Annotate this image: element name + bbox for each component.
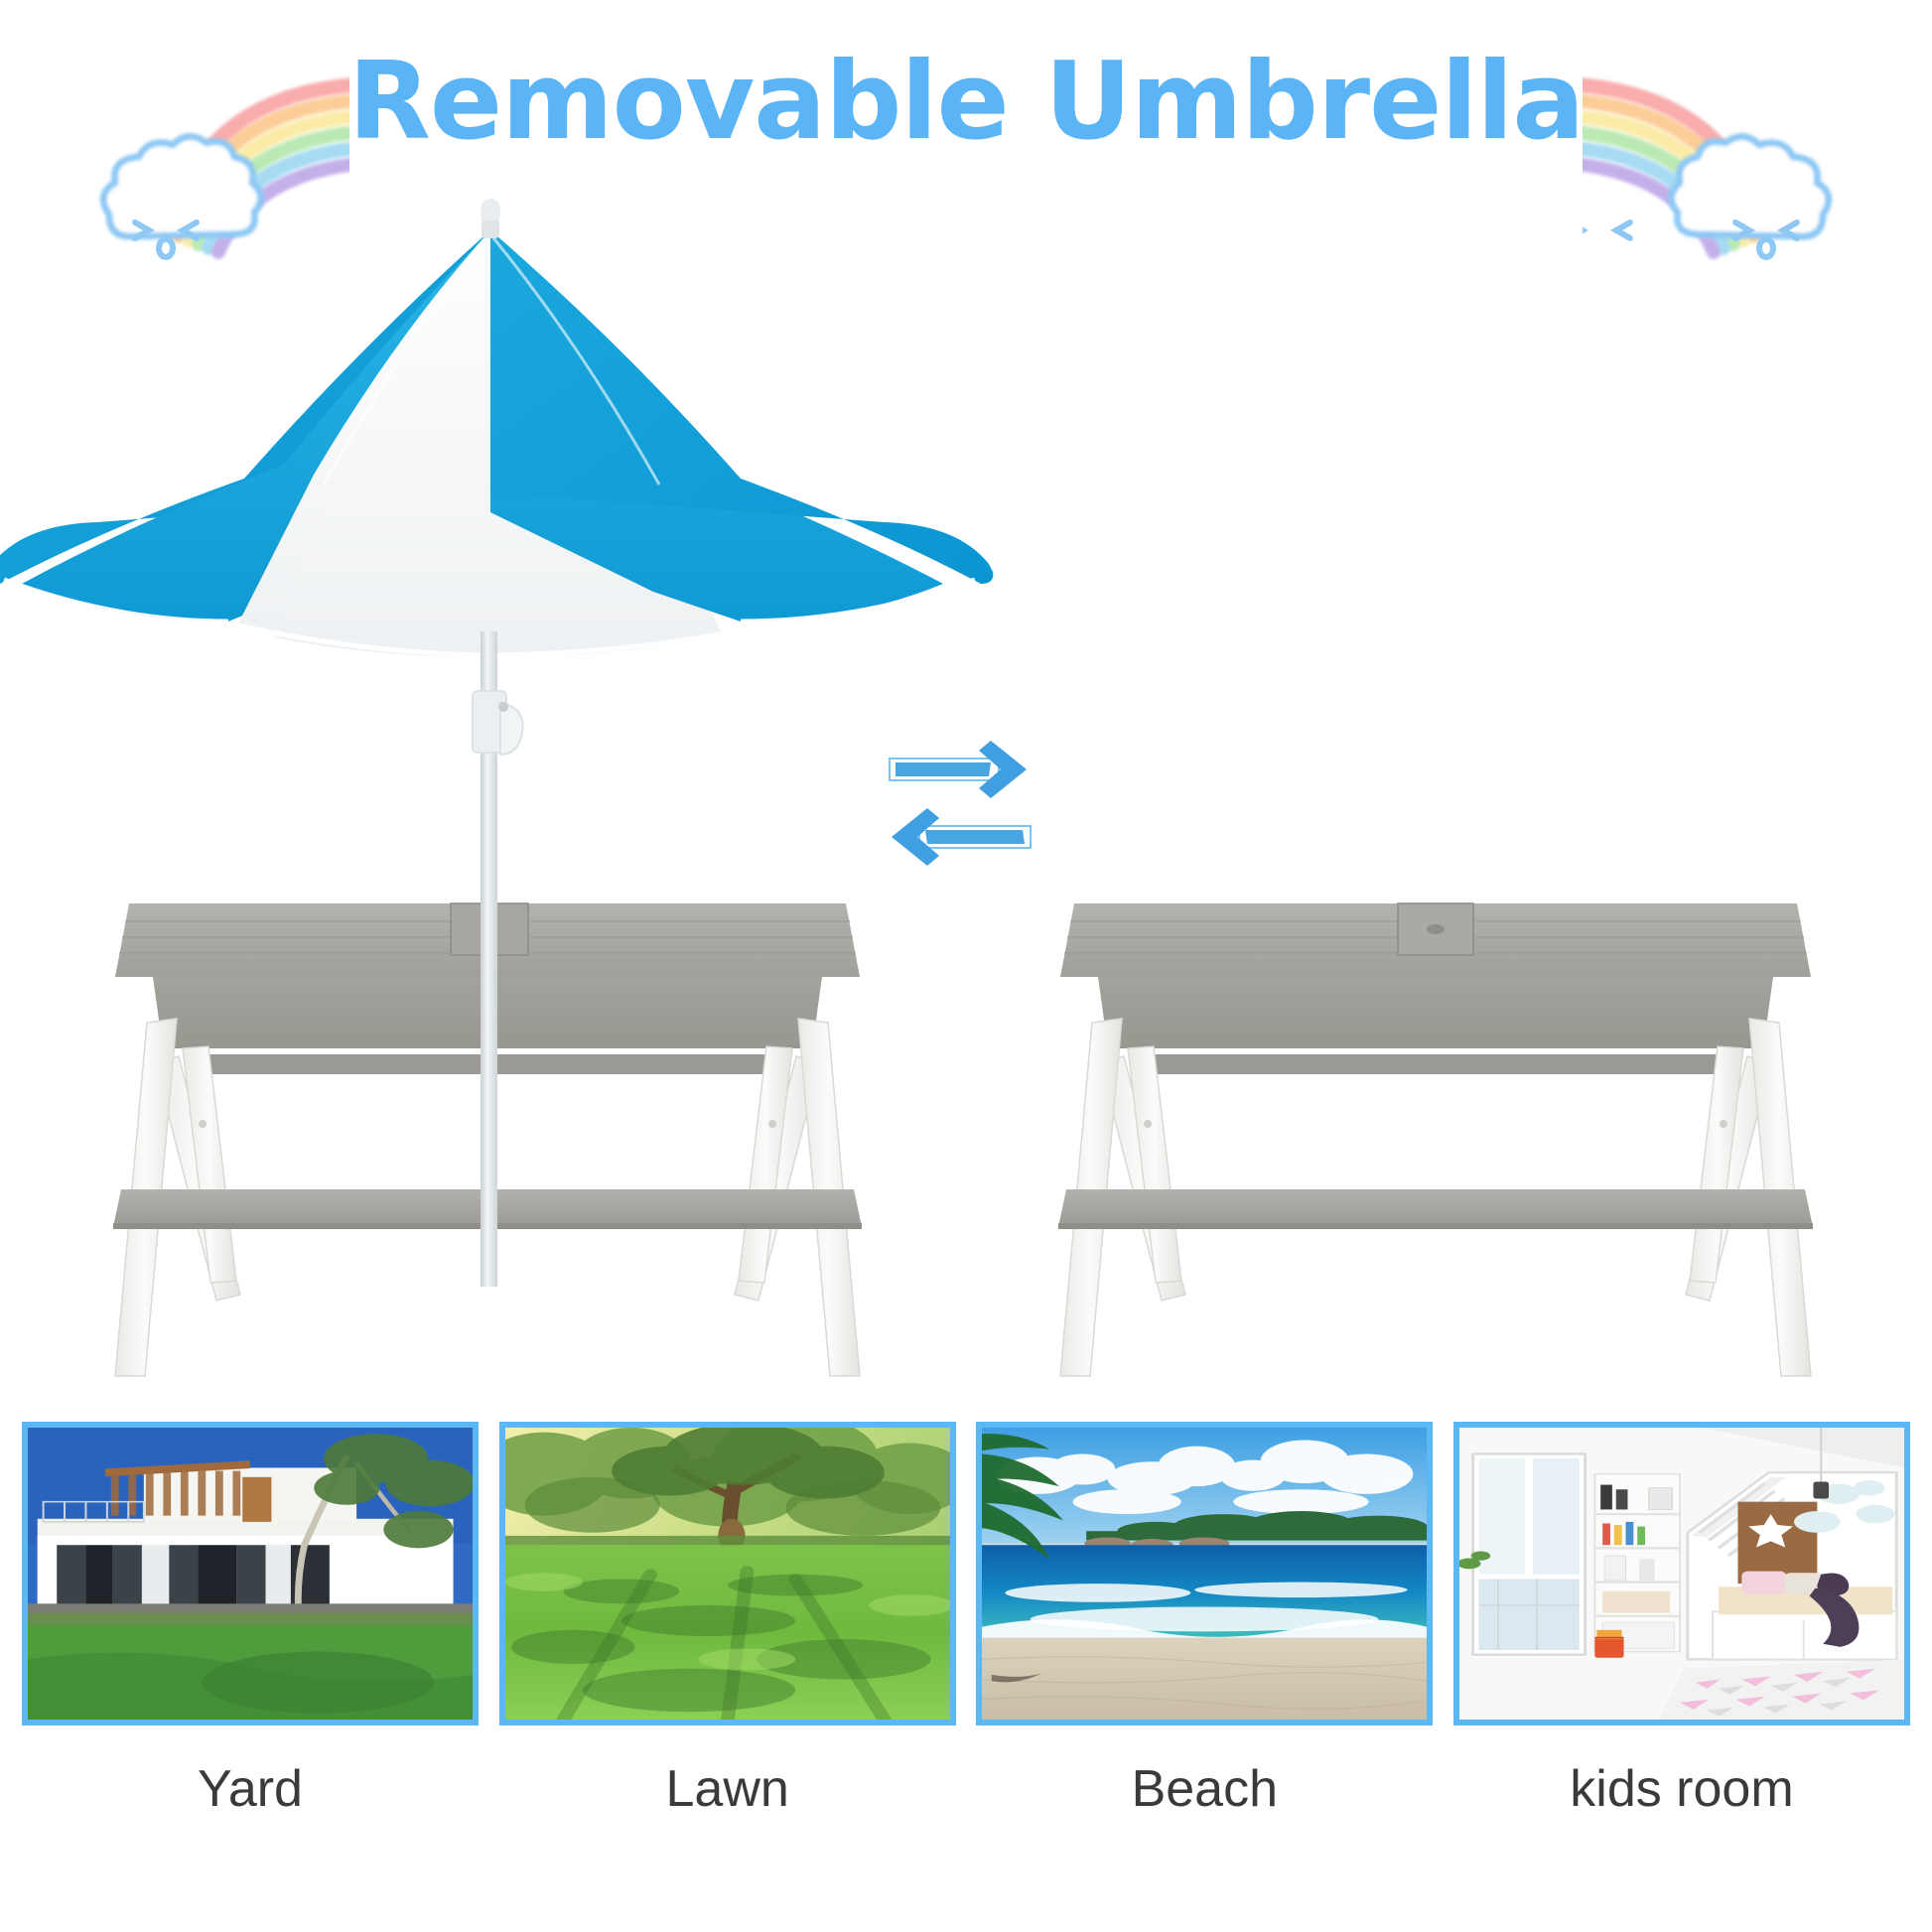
scene-image-kids-room [1453, 1422, 1910, 1725]
scene-image-beach [976, 1422, 1433, 1725]
scene-image-lawn [499, 1422, 956, 1725]
scene-card-lawn[interactable]: Lawn [499, 1422, 956, 1819]
kids-picnic-table-no-umbrella [1038, 874, 1833, 1390]
scene-card-beach[interactable]: Beach [976, 1422, 1433, 1819]
scene-label-lawn: Lawn [666, 1759, 789, 1819]
scene-label-yard: Yard [198, 1759, 303, 1819]
scene-image-yard [22, 1422, 479, 1725]
scene-card-yard[interactable]: Yard [22, 1422, 479, 1819]
swap-arrows [874, 725, 1142, 884]
scene-card-kids-room[interactable]: kids room [1453, 1422, 1910, 1819]
scene-label-beach: Beach [1132, 1759, 1278, 1819]
arrow-right-icon [890, 741, 1027, 798]
beach-umbrella [0, 195, 995, 1297]
page-title: Removable Umbrella [0, 46, 1932, 158]
arrow-left-icon [892, 808, 1031, 866]
usage-scenes-strip: Yard [0, 1422, 1932, 1819]
scene-label-kids-room: kids room [1570, 1759, 1793, 1819]
